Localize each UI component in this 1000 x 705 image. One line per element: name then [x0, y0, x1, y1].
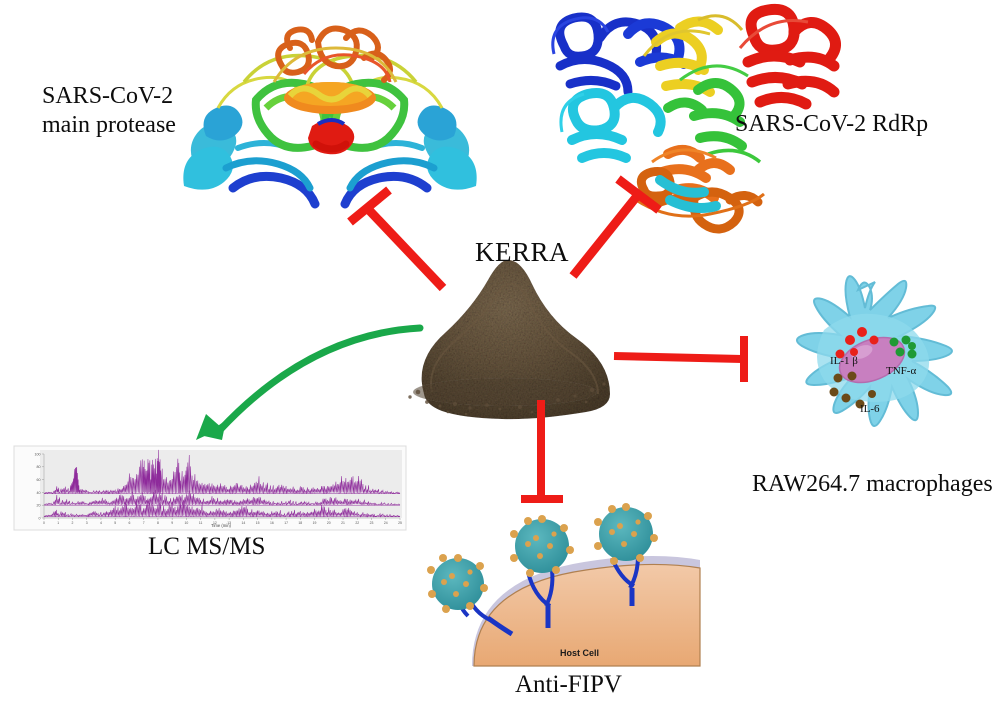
label-antifipv: Anti-FIPV: [515, 670, 622, 701]
antifipv-illustration: Host Cell: [0, 0, 1000, 705]
host-cell-label: Host Cell: [560, 648, 599, 658]
figure-canvas: SARS-CoV-2main protease: [0, 0, 1000, 705]
